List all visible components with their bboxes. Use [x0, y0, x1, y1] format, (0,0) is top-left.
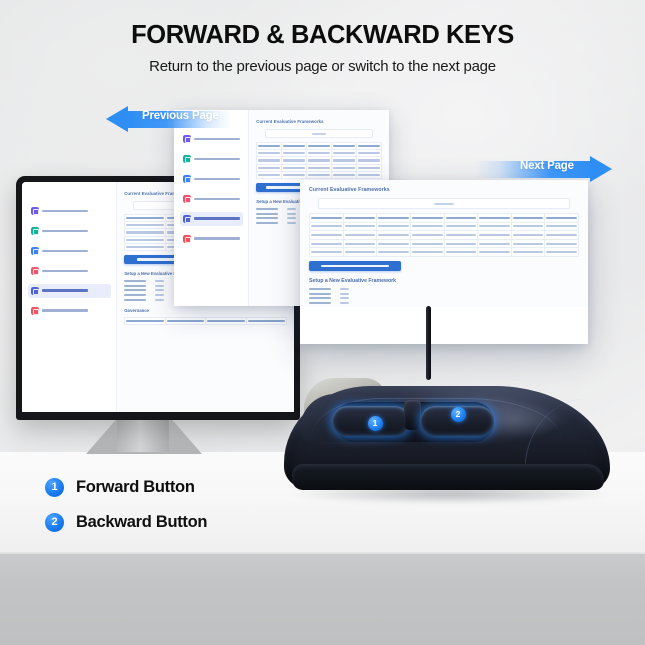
table-row[interactable] [257, 164, 382, 171]
setup-framework-title: Setup a New Evaluative Framework [309, 278, 579, 284]
sidebar-item-label [42, 289, 88, 291]
column-discipline[interactable] [332, 143, 357, 150]
legend-label-forward: Forward Button [76, 478, 195, 497]
column-wave[interactable] [357, 143, 382, 150]
column-discipline[interactable] [410, 214, 444, 223]
column-duplicate[interactable] [545, 214, 579, 223]
table-row[interactable] [257, 150, 382, 157]
sidebar-item-label [42, 210, 88, 212]
computer-mouse: 1 2 [276, 372, 616, 504]
sidebar-item-label [42, 270, 88, 272]
app-sidebar [174, 110, 249, 306]
column-view[interactable] [257, 143, 282, 150]
sidebar-item-nurse-certification[interactable] [180, 152, 243, 166]
column-view[interactable] [125, 215, 165, 222]
desk-front-edge [0, 554, 645, 645]
dashboard-icon [183, 135, 191, 143]
nurse-certification-icon [183, 155, 191, 163]
sidebar-item-dashboard[interactable] [28, 204, 111, 218]
form-row [309, 288, 579, 290]
page-title: FORWARD & BACKWARD KEYS [0, 22, 645, 49]
sidebar-item-advanced-settings[interactable] [28, 303, 111, 317]
modifiers-filter-bar[interactable] [318, 198, 570, 209]
previous-page-label: Previous Page [142, 110, 219, 122]
mouse-cable [426, 306, 431, 380]
governance-title: Governance [124, 308, 287, 313]
column-question[interactable] [246, 317, 286, 324]
mouse-base [292, 464, 604, 490]
frameworks-table-title: Current Evaluative Frameworks [309, 187, 579, 193]
nurse-certification-icon [31, 227, 39, 235]
sub-vendor-certification-icon [31, 247, 39, 255]
evaluation-frameworks-icon [183, 215, 191, 223]
table-row[interactable] [310, 231, 579, 240]
column-mandatory[interactable] [165, 317, 205, 324]
governance-table [124, 317, 287, 325]
sidebar-item-vendor-collected-evidence[interactable] [180, 192, 243, 206]
page-subtitle: Return to the previous page or switch to… [0, 58, 645, 75]
advanced-settings-icon [31, 307, 39, 315]
table-row[interactable] [310, 222, 579, 231]
next-page-label: Next Page [520, 160, 574, 172]
column-evaluative-frameworks[interactable] [478, 214, 512, 223]
legend-badge-2: 2 [45, 513, 64, 532]
backward-side-button[interactable]: 2 [420, 406, 494, 436]
sidebar-item-label [42, 230, 88, 232]
app-content: Current Evaluative Frameworks [300, 180, 588, 307]
table-header-row [310, 214, 579, 223]
legend-badge-1: 1 [45, 478, 64, 497]
table-row[interactable] [257, 171, 382, 178]
form-row [309, 297, 579, 299]
forward-button-badge: 1 [368, 416, 383, 431]
vendor-evidence-icon [183, 195, 191, 203]
backward-button-badge: 2 [451, 407, 466, 422]
thumb-divider [404, 400, 421, 430]
forward-side-button[interactable]: 1 [332, 406, 410, 436]
table-header-row [125, 317, 287, 324]
app-sidebar [22, 182, 117, 412]
sidebar-item-sub-vendor-certification[interactable] [28, 244, 111, 258]
dashboard-icon [31, 207, 39, 215]
frameworks-table-title: Current Evaluative Frameworks [256, 119, 382, 124]
sidebar-item-evaluation-frameworks[interactable] [180, 212, 243, 226]
sidebar-item-dashboard[interactable] [180, 132, 243, 146]
legend-item-forward: 1 Forward Button [45, 478, 207, 497]
form-row [309, 293, 579, 295]
button-legend: 1 Forward Button 2 Backward Button [45, 478, 207, 548]
advanced-settings-icon [183, 235, 191, 243]
header-block: FORWARD & BACKWARD KEYS Return to the pr… [0, 22, 645, 75]
sidebar-item-evaluation-frameworks[interactable] [28, 284, 111, 298]
table-header-row [257, 143, 382, 150]
app-ui-front-panel: Current Evaluative Frameworks [300, 180, 588, 344]
column-sub-vendor[interactable] [282, 143, 307, 150]
sidebar-item-label [42, 309, 88, 311]
sidebar-item-vendor-collected-evidence[interactable] [28, 264, 111, 278]
modifiers-filter-bar[interactable] [265, 129, 373, 138]
floating-panel-front: Current Evaluative Frameworks [300, 180, 588, 344]
column-question-number[interactable] [206, 317, 246, 324]
vendor-evidence-icon [31, 267, 39, 275]
column-optional[interactable] [125, 317, 165, 324]
table-row[interactable] [310, 248, 579, 257]
next-page-arrow: Next Page [474, 156, 612, 182]
column-regions[interactable] [377, 214, 411, 223]
legend-item-backward: 2 Backward Button [45, 513, 207, 532]
column-sub-vendor[interactable] [343, 214, 377, 223]
frameworks-table [309, 213, 579, 257]
column-results[interactable] [511, 214, 545, 223]
form-row [309, 302, 579, 304]
table-row[interactable] [310, 239, 579, 248]
sidebar-item-advanced-settings[interactable] [180, 231, 243, 245]
column-view[interactable] [310, 214, 344, 223]
frameworks-table [256, 142, 382, 179]
monitor-stand-neck [117, 418, 169, 452]
column-wave[interactable] [444, 214, 478, 223]
table-row[interactable] [257, 157, 382, 164]
evaluation-frameworks-icon [31, 287, 39, 295]
add-new-evaluative-framework-button[interactable] [309, 261, 401, 271]
arrow-left-icon [106, 106, 128, 132]
sidebar-item-nurse-certification[interactable] [28, 224, 111, 238]
sidebar-item-label [42, 250, 88, 252]
arrow-right-icon [590, 156, 612, 182]
sub-vendor-certification-icon [183, 175, 191, 183]
legend-label-backward: Backward Button [76, 513, 207, 532]
previous-page-arrow: Previous Page [106, 106, 230, 132]
column-regions[interactable] [307, 143, 332, 150]
sidebar-item-sub-vendor-certification[interactable] [180, 172, 243, 186]
